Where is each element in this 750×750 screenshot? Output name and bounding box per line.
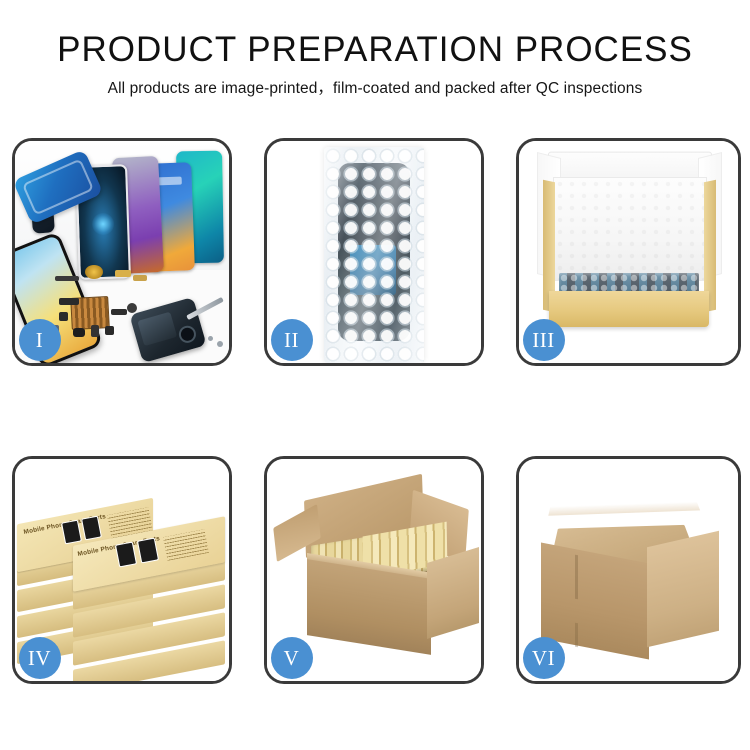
step-badge-4: IV [19,637,61,679]
ribbon-cable-part-icon [59,298,79,305]
gold-contact-part-icon [115,270,131,277]
screw-part-icon [208,336,213,341]
antenna-part-icon [111,309,127,315]
box-artwork-thumb [114,541,136,567]
vibrator-part-icon [73,328,85,337]
phone-back-housing-icon [129,297,206,363]
speaker-part-icon [85,265,103,279]
step-badge-3: III [523,319,565,361]
step-badge-2: II [271,319,313,361]
box-front-panel [549,291,709,327]
film-gloss-overlay [324,147,424,363]
carton-side-panel [427,547,479,639]
process-steps-grid: I II II [0,138,750,708]
button-part-icon [105,326,114,335]
chip-part-icon [59,312,68,321]
process-step-panel-6: VI [516,456,741,684]
flex-cable-part-icon [55,276,79,281]
step-badge-6: VI [523,637,565,679]
carton-side-panel [647,531,719,648]
page-header: PRODUCT PREPARATION PROCESS All products… [0,0,750,99]
step-badge-5: V [271,637,313,679]
box-artwork-thumb [136,537,158,563]
bracket-part-icon [91,325,99,337]
carton-seam [575,623,578,648]
process-step-panel-1: I [12,138,232,366]
screw-part-icon [217,341,223,347]
white-foam-lining [553,177,707,281]
process-step-panel-3: III [516,138,741,366]
tape-glare-highlight [666,473,712,505]
box-artwork-thumb [61,520,82,545]
gold-flex-part-icon [133,275,147,281]
packing-tape-strip [548,502,700,516]
page-title: PRODUCT PREPARATION PROCESS [0,30,750,70]
process-step-panel-2: II [264,138,484,366]
carton-seam [575,555,578,600]
step-badge-1: I [19,319,61,361]
process-step-panel-4: Mobile Phone Spare Parts Mobile Phone Sp… [12,456,232,684]
box-artwork-thumb [81,516,102,541]
process-step-panel-5: V [264,456,484,684]
page-subtitle: All products are image-printed，film-coat… [0,79,750,99]
camera-lens-part-icon [127,303,137,313]
